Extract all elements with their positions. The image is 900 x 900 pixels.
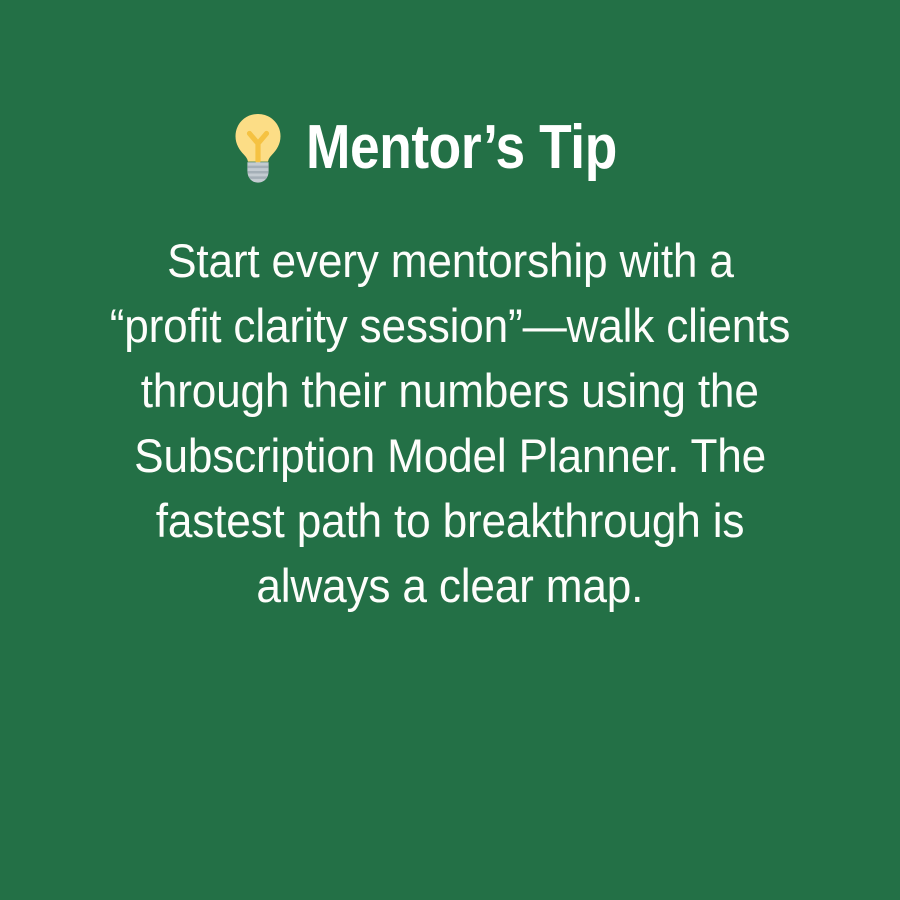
tip-body-line: through their numbers using the: [141, 358, 759, 423]
tip-body-line: Start every mentorship with a: [167, 228, 734, 293]
card-header: Mentor’s Tip: [232, 112, 667, 184]
tip-body-line: “profit clarity session”—walk clients: [110, 293, 790, 358]
lightbulb-icon: [232, 112, 284, 184]
tip-body-line: fastest path to breakthrough is: [156, 488, 745, 553]
mentors-tip-card: Mentor’s Tip Start every mentorship with…: [0, 0, 900, 900]
page-title: Mentor’s Tip: [306, 117, 617, 179]
tip-body-line: always a clear map.: [257, 553, 644, 618]
tip-body: Start every mentorship with a “profit cl…: [55, 228, 845, 618]
tip-body-line: Subscription Model Planner. The: [134, 423, 766, 488]
